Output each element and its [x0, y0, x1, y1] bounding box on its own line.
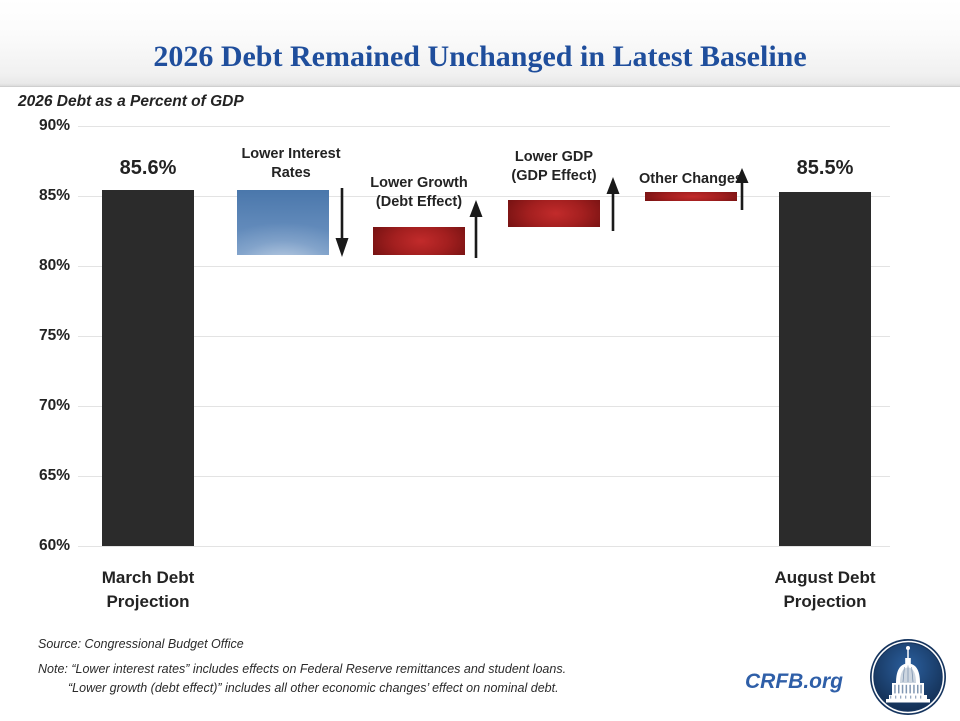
gridline-65	[78, 476, 890, 477]
category-label-march: March Debt Projection	[78, 566, 218, 614]
note-line-2: “Lower growth (debt effect)” includes al…	[68, 681, 559, 695]
category-label-august-line2: Projection	[783, 592, 866, 611]
label-lower-interest-rates-line1: Lower Interest	[241, 146, 340, 162]
category-label-march-line2: Projection	[106, 592, 189, 611]
label-lower-growth-line1: Lower Growth	[370, 175, 467, 191]
header-divider	[0, 86, 960, 87]
y-tick-80: 80%	[12, 257, 70, 275]
arrow-down-icon	[334, 188, 350, 258]
chart-subtitle: 2026 Debt as a Percent of GDP	[18, 93, 244, 111]
gridline-80	[78, 266, 890, 267]
gridline-60	[78, 546, 890, 547]
chart-canvas: 2026 Debt Remained Unchanged in Latest B…	[0, 0, 960, 720]
page-title: 2026 Debt Remained Unchanged in Latest B…	[0, 40, 960, 74]
capitol-dome-icon[interactable]	[869, 638, 947, 716]
crfb-brand-text[interactable]: CRFB.org	[745, 670, 843, 694]
y-tick-75: 75%	[12, 327, 70, 345]
arrow-up-icon	[734, 168, 750, 210]
gridline-70	[78, 406, 890, 407]
arrow-up-icon	[468, 200, 484, 258]
note-line-1: Note: “Lower interest rates” includes ef…	[38, 662, 566, 676]
category-label-august: August Debt Projection	[755, 566, 895, 614]
label-lower-growth-line2: (Debt Effect)	[376, 194, 462, 210]
label-lower-gdp-line2: (GDP Effect)	[511, 168, 596, 184]
y-axis: 90% 85% 80% 75% 70% 65% 60%	[8, 126, 70, 546]
bar-august-debt-projection[interactable]	[779, 192, 871, 546]
label-other-changes-line1: Other Changes	[639, 171, 743, 187]
category-label-march-line1: March Debt	[102, 568, 195, 587]
march-value-label: 85.6%	[102, 157, 194, 180]
bar-lower-interest-rates[interactable]	[237, 190, 329, 255]
label-lower-gdp-line1: Lower GDP	[515, 149, 593, 165]
y-tick-70: 70%	[12, 397, 70, 415]
label-lower-interest-rates: Lower Interest Rates	[217, 145, 365, 183]
gridline-75	[78, 336, 890, 337]
y-tick-90: 90%	[12, 117, 70, 135]
y-tick-85: 85%	[12, 187, 70, 205]
bar-lower-growth-debt-effect[interactable]	[373, 227, 465, 255]
bar-other-changes[interactable]	[645, 192, 737, 201]
bar-lower-gdp-gdp-effect[interactable]	[508, 200, 600, 227]
gridline-90	[78, 126, 890, 127]
august-value-label: 85.5%	[779, 157, 871, 180]
source-note: Source: Congressional Budget Office	[38, 637, 244, 651]
y-tick-60: 60%	[12, 537, 70, 555]
bar-march-debt-projection[interactable]	[102, 190, 194, 546]
label-lower-gdp: Lower GDP (GDP Effect)	[489, 148, 619, 186]
label-lower-interest-rates-line2: Rates	[271, 165, 311, 181]
category-label-august-line1: August Debt	[774, 568, 875, 587]
y-tick-65: 65%	[12, 467, 70, 485]
